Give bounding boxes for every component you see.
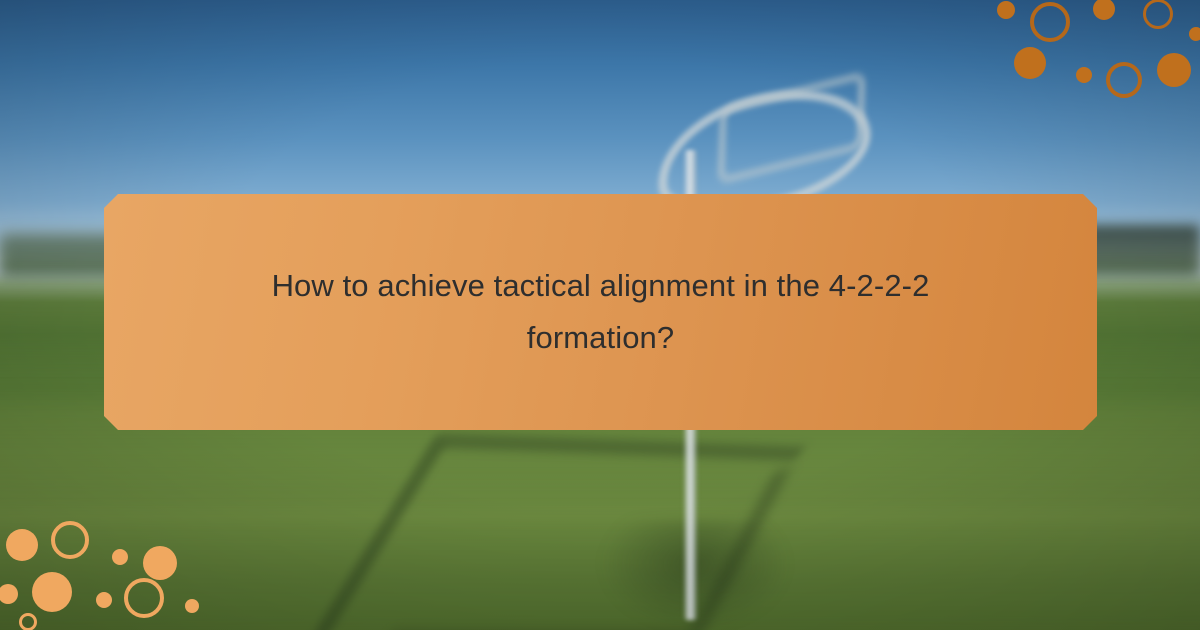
decorative-dot: [1143, 0, 1173, 29]
decorative-dot: [19, 613, 37, 630]
decorative-dot: [1157, 53, 1191, 87]
decorative-dot: [1030, 2, 1070, 42]
decorative-dot: [1106, 62, 1142, 98]
decorative-dot: [1189, 27, 1200, 41]
decorative-dot: [1014, 47, 1046, 79]
decorative-dot: [112, 549, 128, 565]
decorative-dot: [1076, 67, 1092, 83]
promo-card: How to achieve tactical alignment in the…: [0, 0, 1200, 630]
decorative-dot: [997, 1, 1015, 19]
decorative-dot: [143, 546, 177, 580]
decorative-dot: [32, 572, 72, 612]
decorative-dot: [185, 599, 199, 613]
decorative-dot: [51, 521, 89, 559]
banner-title-text: How to achieve tactical alignment in the…: [221, 260, 981, 364]
decorative-dot: [6, 529, 38, 561]
decorative-dot: [96, 592, 112, 608]
decorative-dot: [124, 578, 164, 618]
title-banner: How to achieve tactical alignment in the…: [104, 194, 1097, 430]
